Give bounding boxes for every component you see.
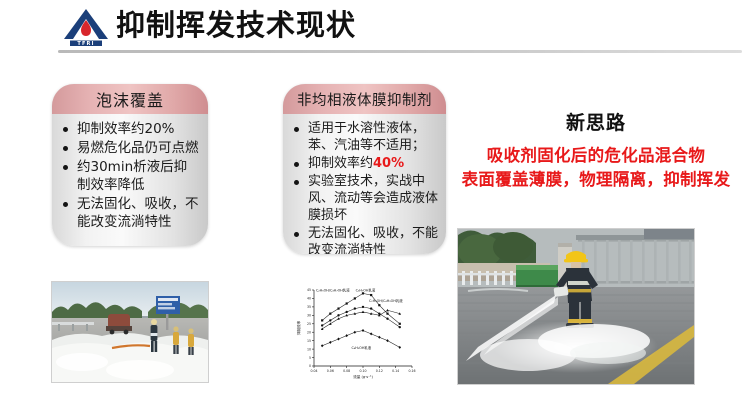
svg-text:C₂H₅OH/C₃H₇OH乳液: C₂H₅OH/C₃H₇OH乳液: [316, 288, 350, 293]
new-approach-line-1: 吸收剂固化后的危化品混合物: [452, 144, 740, 168]
card-heterogeneous-film-heading: 非均相液体膜抑制剂: [283, 84, 446, 114]
highway-foam-photo: [51, 281, 209, 383]
card-foam-cover-heading: 泡沫覆盖: [52, 84, 208, 114]
list-item: 约30min析液后抑制效率降低: [62, 158, 200, 194]
svg-text:抑制效率: 抑制效率: [296, 320, 301, 335]
bullet-list: 适用于水溶性液体，苯、汽油等不适用； 抑制效率约40% 实验室技术，实战中风、流…: [293, 120, 438, 254]
svg-text:15: 15: [307, 339, 311, 343]
svg-text:0.04: 0.04: [310, 369, 317, 373]
list-item: 无法固化、吸收，不能改变流淌特性: [62, 195, 200, 231]
page-title: 抑制挥发技术现状: [116, 8, 356, 42]
slide-header: TFRI 抑制挥发技术现状: [0, 0, 744, 58]
svg-text:10: 10: [307, 347, 311, 351]
list-item: 无法固化、吸收，不能改变流淌特性: [293, 225, 438, 254]
efficiency-value: 40%: [373, 156, 404, 171]
list-item-efficiency: 抑制效率约40%: [293, 155, 438, 172]
card-heterogeneous-film-body: 适用于水溶性液体，苯、汽油等不适用； 抑制效率约40% 实验室技术，实战中风、流…: [283, 114, 446, 254]
highway-foam-illustration: [52, 282, 208, 382]
new-approach-title: 新思路: [452, 108, 740, 135]
new-approach-line-2: 表面覆盖薄膜，物理隔离，抑制挥发: [452, 168, 740, 192]
svg-text:25: 25: [307, 322, 311, 326]
card-foam-cover: 泡沫覆盖 抑制效率约20% 易燃危化品仍可点燃 约30min析液后抑制效率降低 …: [52, 84, 208, 246]
svg-text:0.12: 0.12: [376, 369, 383, 373]
chart-canvas: 0510152025303540450.040.060.080.100.120.…: [288, 278, 416, 390]
tfri-logo-icon: TFRI: [58, 6, 114, 48]
new-approach-block: 新思路 吸收剂固化后的危化品混合物 表面覆盖薄膜，物理隔离，抑制挥发: [452, 108, 740, 192]
bullet-list: 抑制效率约20% 易燃危化品仍可点燃 约30min析液后抑制效率降低 无法固化、…: [62, 120, 200, 231]
card-foam-cover-body: 抑制效率约20% 易燃危化品仍可点燃 约30min析液后抑制效率降低 无法固化、…: [52, 114, 208, 236]
svg-text:0.08: 0.08: [343, 369, 350, 373]
card-heterogeneous-film: 非均相液体膜抑制剂 适用于水溶性液体，苯、汽油等不适用； 抑制效率约40% 实验…: [283, 84, 446, 254]
svg-text:0.10: 0.10: [359, 369, 366, 373]
svg-text:流量 (g·s⁻¹): 流量 (g·s⁻¹): [353, 374, 373, 379]
svg-text:45: 45: [307, 288, 311, 292]
efficiency-flow-chart: 0510152025303540450.040.060.080.100.120.…: [288, 278, 416, 390]
title-divider: [58, 50, 742, 53]
slide-root: TFRI 抑制挥发技术现状 泡沫覆盖 抑制效率约20% 易燃危化品仍可点燃 约3…: [0, 0, 744, 419]
firefighter-spray-illustration: [458, 229, 694, 384]
svg-text:0: 0: [309, 364, 311, 368]
svg-text:C₄H₉OH乳液: C₄H₉OH乳液: [352, 345, 372, 350]
list-item: 适用于水溶性液体，苯、汽油等不适用；: [293, 120, 438, 154]
list-item: 易燃危化品仍可点燃: [62, 139, 200, 157]
svg-text:30: 30: [307, 314, 311, 318]
efficiency-label: 抑制效率约: [308, 156, 373, 171]
svg-text:5: 5: [309, 356, 311, 360]
svg-text:0.06: 0.06: [327, 369, 334, 373]
svg-text:35: 35: [307, 305, 311, 309]
svg-text:C₃H₇OH乳液: C₃H₇OH乳液: [356, 288, 376, 293]
svg-text:20: 20: [307, 330, 311, 334]
svg-text:0.14: 0.14: [392, 369, 399, 373]
svg-text:0.16: 0.16: [408, 369, 415, 373]
list-item: 抑制效率约20%: [62, 120, 200, 138]
firefighter-spray-photo: [457, 228, 695, 385]
list-item: 实验室技术，实战中风、流动等会造成液体膜损坏: [293, 173, 438, 224]
svg-text:TFRI: TFRI: [77, 41, 94, 47]
svg-text:C₂H₅OH/C₄H₉OH乳液: C₂H₅OH/C₄H₉OH乳液: [369, 298, 403, 303]
svg-text:40: 40: [307, 297, 311, 301]
